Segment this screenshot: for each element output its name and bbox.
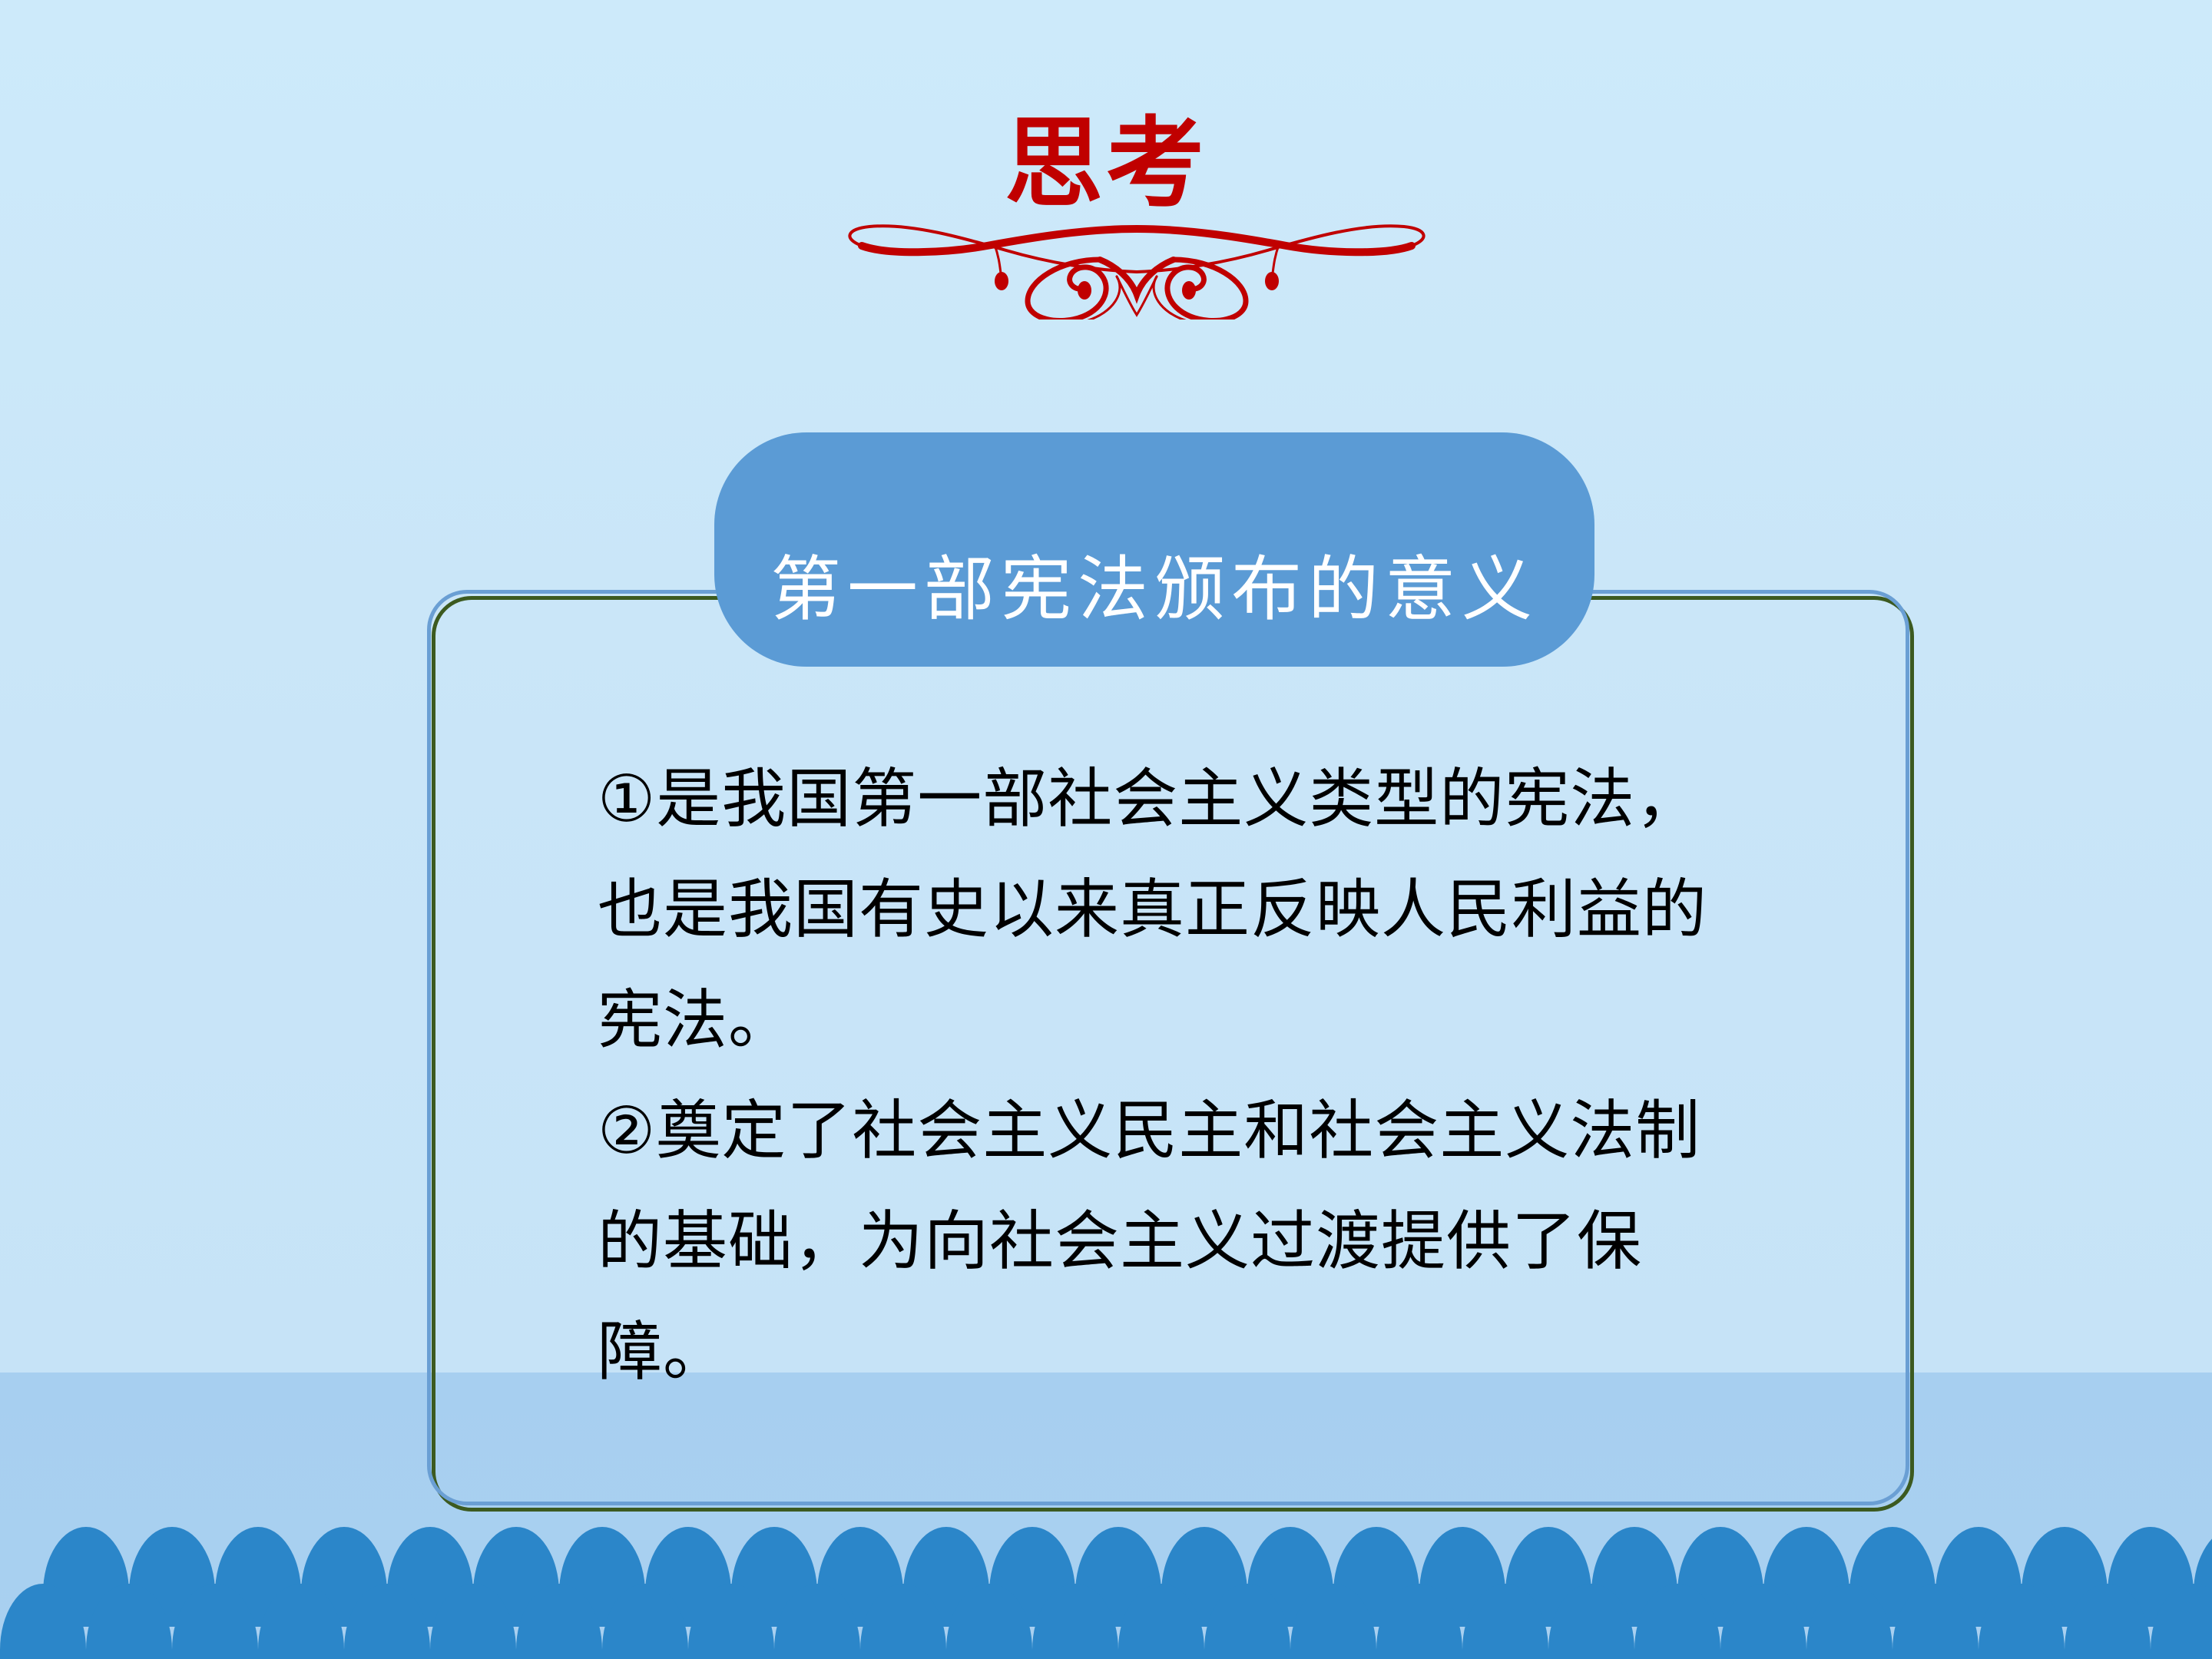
arch-shape bbox=[516, 1584, 602, 1659]
arch-shape bbox=[1032, 1584, 1118, 1659]
arch-shape bbox=[344, 1584, 430, 1659]
heading-pill-label: 第一部宪法颁布的意义 bbox=[770, 555, 1538, 667]
content-paragraph: ②奠定了社会主义民主和社会主义法制的基础，为向社会主义过渡提供了保障。 bbox=[598, 1075, 1765, 1407]
arch-shape bbox=[1806, 1584, 1892, 1659]
heading-pill: 第一部宪法颁布的意义 bbox=[714, 432, 1594, 667]
arch-shape bbox=[1892, 1584, 1979, 1659]
arch-shape bbox=[1548, 1584, 1634, 1659]
arch-shape bbox=[602, 1584, 688, 1659]
arch-shape bbox=[1720, 1584, 1806, 1659]
arch-shape bbox=[946, 1584, 1032, 1659]
arch-shape bbox=[1979, 1584, 2065, 1659]
arch-pattern-row-bottom bbox=[0, 1584, 2212, 1659]
arch-shape bbox=[774, 1584, 860, 1659]
arch-shape bbox=[2151, 1584, 2212, 1659]
calligraphic-flourish-divider-icon bbox=[829, 212, 1444, 320]
slide-canvas: 思考 bbox=[0, 0, 2212, 1659]
content-paragraph: ①是我国第一部社会主义类型的宪法，也是我国有史以来真正反映人民利益的宪法。 bbox=[598, 743, 1765, 1075]
arch-shape bbox=[0, 1584, 86, 1659]
arch-shape bbox=[1204, 1584, 1290, 1659]
arch-shape bbox=[860, 1584, 946, 1659]
arch-shape bbox=[258, 1584, 344, 1659]
arch-shape bbox=[1376, 1584, 1462, 1659]
arch-shape bbox=[172, 1584, 258, 1659]
arch-shape bbox=[2065, 1584, 2151, 1659]
arch-shape bbox=[1462, 1584, 1548, 1659]
arch-shape bbox=[1118, 1584, 1204, 1659]
arch-shape bbox=[1290, 1584, 1376, 1659]
arch-shape bbox=[688, 1584, 774, 1659]
arch-shape bbox=[1634, 1584, 1720, 1659]
arch-shape bbox=[430, 1584, 516, 1659]
page-title: 思考 bbox=[0, 115, 2212, 214]
arch-shape bbox=[86, 1584, 172, 1659]
content-body: ①是我国第一部社会主义类型的宪法，也是我国有史以来真正反映人民利益的宪法。 ②奠… bbox=[598, 743, 1765, 1407]
